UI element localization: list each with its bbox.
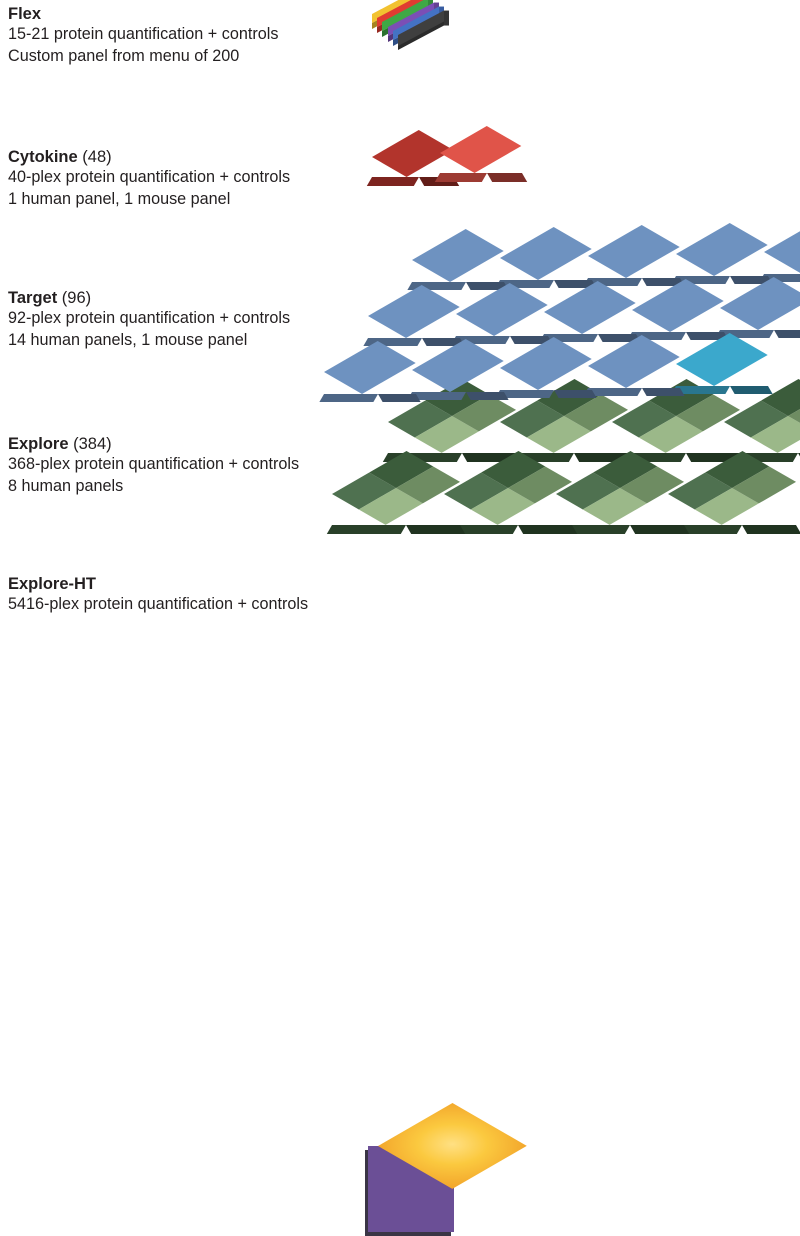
cytokine-plate-pair-icon: [362, 149, 542, 219]
plate-edge-right: [487, 173, 527, 182]
plate-edge-right: [730, 386, 773, 394]
plate-edge-right: [518, 525, 577, 534]
target-desc-line-1: 92-plex protein quantification + control…: [8, 308, 356, 330]
flex-title: Flex: [8, 4, 356, 24]
plate-edge-front: [327, 525, 407, 534]
target-title-name: Target: [8, 289, 57, 307]
cytokine-text-block: Cytokine (48) 40-plex protein quantifica…: [8, 147, 356, 210]
explore-title-name: Explore: [8, 435, 69, 453]
explore-text-block: Explore (384) 368-plex protein quantific…: [8, 434, 356, 497]
plate-edge-right: [630, 525, 689, 534]
explore-title-count: (384): [73, 435, 112, 453]
flex-desc-line-2: Custom panel from menu of 200: [8, 46, 356, 68]
cytokine-plate: [440, 153, 534, 210]
plate-edge-right: [378, 394, 421, 402]
explore-desc-line-1: 368-plex protein quantification + contro…: [8, 454, 356, 476]
explore-ht-desc-line-1: 5416-plex protein quantification + contr…: [8, 594, 356, 616]
target-title: Target (96): [8, 288, 356, 308]
cytokine-desc-line-2: 1 human panel, 1 mouse panel: [8, 189, 356, 211]
explore-desc-line-2: 8 human panels: [8, 476, 356, 498]
flex-strip-stack-icon: [368, 8, 468, 64]
plate-top-face: [440, 126, 521, 173]
product-row-cytokine: Cytokine (48) 40-plex protein quantifica…: [0, 143, 800, 243]
flex-strip-wrap: [368, 8, 468, 64]
plate-edge-front: [435, 173, 487, 182]
plate-edge-right: [642, 388, 685, 396]
target-title-count: (96): [62, 289, 91, 307]
explore-ht-title-name: Explore-HT: [8, 575, 96, 593]
explore-ht-plate-icon: [372, 1142, 502, 1210]
product-row-target: Target (96) 92-plex protein quantificati…: [0, 250, 800, 415]
flex-text-block: Flex 15-21 protein quantification + cont…: [8, 4, 356, 67]
product-row-flex: Flex 15-21 protein quantification + cont…: [0, 0, 800, 130]
flex-title-name: Flex: [8, 5, 41, 23]
plate-edge-right: [406, 525, 465, 534]
explore-ht-title: Explore-HT: [8, 574, 356, 594]
flex-strip-cap: [444, 11, 449, 26]
target-plate-grid-icon: [352, 250, 800, 410]
product-row-explore-ht: Explore-HT 5416-plex protein quantificat…: [0, 570, 800, 660]
cytokine-title-count: (48): [82, 148, 111, 166]
explore-ht-text-block: Explore-HT 5416-plex protein quantificat…: [8, 574, 356, 616]
cytokine-title-name: Cytokine: [8, 148, 78, 166]
target-plate: [324, 372, 432, 433]
plate-edge-right: [466, 392, 509, 400]
explore-plate: [332, 494, 482, 577]
plate-edge-right: [742, 525, 800, 534]
explore-plate-grid-icon: [352, 420, 800, 560]
product-row-explore: Explore (384) 368-plex protein quantific…: [0, 420, 800, 565]
plate-edge-front: [319, 394, 377, 402]
target-desc-line-2: 14 human panels, 1 mouse panel: [8, 330, 356, 352]
plate-edge-front: [367, 177, 419, 186]
explore-title: Explore (384): [8, 434, 356, 454]
cytokine-title: Cytokine (48): [8, 147, 356, 167]
plate-edge-right: [554, 390, 597, 398]
plate-edge-right: [774, 330, 800, 338]
flex-desc-line-1: 15-21 protein quantification + controls: [8, 24, 356, 46]
cytokine-desc-line-1: 40-plex protein quantification + control…: [8, 167, 356, 189]
target-text-block: Target (96) 92-plex protein quantificati…: [8, 288, 356, 351]
